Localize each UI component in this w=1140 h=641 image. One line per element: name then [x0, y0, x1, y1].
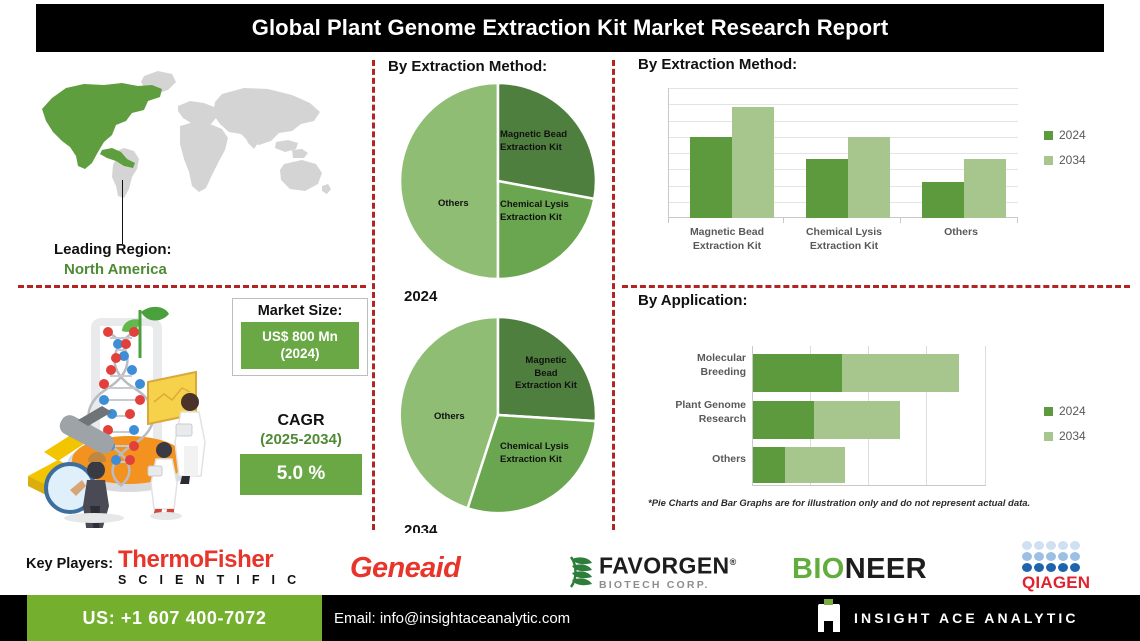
favorgen-subtext: BIOTECH CORP.: [599, 579, 737, 591]
report-title-bar: Global Plant Genome Extraction Kit Marke…: [36, 4, 1104, 52]
pie-2034-label-others: Others: [434, 411, 465, 424]
region-callout: Leading Region: North America: [54, 240, 172, 280]
legend-swatch-2034: [1044, 156, 1053, 165]
qiagen-wordmark: QIAGEN: [1022, 573, 1090, 593]
bar-2024-chemical-lysis: [806, 159, 848, 218]
geneaid-wordmark: Geneaid: [350, 552, 460, 585]
chart-disclaimer: *Pie Charts and Bar Graphs are for illus…: [648, 498, 1030, 509]
bar-chart-heading: By Extraction Method:: [638, 56, 1132, 73]
app-legend-item-2034: 2034: [1044, 429, 1086, 443]
pie-section-heading: By Extraction Method:: [388, 58, 604, 75]
app-plot-area: [752, 346, 986, 486]
market-size-amount: US$ 800 Mn: [243, 328, 357, 345]
divider-vertical-left: [372, 60, 375, 530]
app-row-plant-genome-research: [753, 401, 987, 439]
infographic-page: Global Plant Genome Extraction Kit Marke…: [0, 0, 1140, 641]
leading-region-panel: Leading Region: North America: [18, 62, 366, 277]
bar-2034-magnetic-bead: [732, 107, 774, 218]
divider-horizontal-left: [18, 285, 366, 288]
pie-2034-svg: [398, 315, 598, 515]
pie-2034-label-chemical-lysis: Chemical LysisExtraction Kit: [500, 441, 569, 466]
pie-2024-label-others: Others: [438, 198, 469, 211]
bar-plot-area: [668, 88, 1018, 218]
footer-brand: INSIGHT ACE ANALYTIC: [818, 595, 1079, 641]
app-legend-item-2024: 2024: [1044, 404, 1086, 418]
pie-2024-label-chemical-lysis: Chemical LysisExtraction Kit: [500, 199, 569, 224]
legend-label-2034: 2034: [1059, 153, 1086, 167]
pie-chart-2034: MagneticBeadExtraction Kit Chemical Lysi…: [382, 315, 604, 539]
logo-qiagen: QIAGEN: [1022, 541, 1090, 593]
cagr-card: CAGR (2025-2034) 5.0 %: [240, 412, 362, 495]
bar-category-chemical-lysis: Chemical LysisExtraction Kit: [786, 226, 902, 253]
hbar-2034-plant-genome-research: [814, 401, 900, 439]
pie-2024-label-magnetic-bead: Magnetic BeadExtraction Kit: [500, 129, 567, 154]
footer-bar: US: +1 607 400-7072 Email: info@insighta…: [0, 595, 1140, 641]
page-title: Global Plant Genome Extraction Kit Marke…: [252, 15, 889, 41]
market-size-title: Market Size:: [233, 303, 367, 319]
divider-vertical-right: [612, 60, 615, 530]
pie-2034-label-magnetic-bead: MagneticBeadExtraction Kit: [498, 355, 594, 393]
key-players-label: Key Players:: [26, 556, 113, 572]
insight-ace-logo-icon: [818, 604, 840, 632]
cagr-value: 5.0 %: [240, 454, 362, 495]
bioneer-wordmark-bio: BIO: [792, 553, 845, 585]
logo-geneaid: Geneaid: [350, 552, 460, 585]
qiagen-dot-grid-icon: [1022, 541, 1090, 572]
bioneer-wordmark-neer: NEER: [845, 553, 927, 585]
favorgen-mark-icon: [568, 553, 594, 589]
bar-2034-others: [964, 159, 1006, 218]
application-bar-chart: By Application: Molecula: [620, 292, 1132, 530]
leading-region-value: North America: [54, 260, 172, 280]
legend-item-2024: 2024: [1044, 128, 1086, 142]
dna-lab-illustration: [22, 300, 237, 528]
app-legend-label-2024: 2024: [1059, 404, 1086, 418]
app-legend-swatch-2024: [1044, 407, 1053, 416]
divider-horizontal-right: [622, 285, 1130, 288]
favorgen-wordmark: FAVORGEN®: [599, 551, 737, 578]
logo-thermo-fisher: ThermoFisher S C I E N T I F I C: [118, 548, 300, 587]
extraction-method-bar-chart: By Extraction Method:: [620, 56, 1132, 276]
bar-category-others: Others: [904, 226, 1018, 240]
logo-favorgen: FAVORGEN® BIOTECH CORP.: [568, 551, 737, 591]
map-leader-line: [122, 180, 123, 244]
cagr-years: (2025-2034): [240, 431, 362, 448]
hbar-2024-others: [753, 447, 785, 483]
world-map: [40, 64, 340, 214]
legend-swatch-2024: [1044, 131, 1053, 140]
app-chart-legend: 2024 2034: [1044, 404, 1086, 454]
footer-brand-text: INSIGHT ACE ANALYTIC: [854, 610, 1079, 626]
market-size-card: Market Size: US$ 800 Mn (2024): [232, 298, 368, 376]
hbar-2024-molecular-breeding: [753, 354, 842, 392]
legend-item-2034: 2034: [1044, 153, 1086, 167]
pie-2024-year: 2024: [404, 288, 604, 305]
app-category-molecular-breeding: MolecularBreeding: [630, 352, 746, 379]
footer-phone[interactable]: US: +1 607 400-7072: [27, 595, 322, 641]
pie-chart-column: By Extraction Method: Magnetic BeadExtra…: [382, 58, 604, 530]
bar-category-magnetic-bead: Magnetic BeadExtraction Kit: [668, 226, 786, 253]
bar-2034-chemical-lysis: [848, 137, 890, 218]
hbar-2034-molecular-breeding: [842, 354, 959, 392]
market-size-value: US$ 800 Mn (2024): [241, 322, 359, 369]
leading-region-label: Leading Region:: [54, 240, 172, 260]
app-chart-heading: By Application:: [638, 292, 1132, 309]
legend-label-2024: 2024: [1059, 128, 1086, 142]
logo-bioneer: BIONEER: [792, 553, 927, 586]
bar-2024-magnetic-bead: [690, 137, 732, 218]
favorgen-registered-icon: ®: [730, 557, 737, 567]
bar-chart-legend: 2024 2034: [1044, 128, 1086, 178]
hbar-2024-plant-genome-research: [753, 401, 814, 439]
app-legend-swatch-2034: [1044, 432, 1053, 441]
pie-chart-2024: Magnetic BeadExtraction Kit Chemical Lys…: [382, 81, 604, 305]
app-row-others: [753, 447, 987, 483]
footer-email[interactable]: Email: info@insightaceanalytic.com: [334, 595, 570, 641]
pie-2024-svg: [398, 81, 598, 281]
app-legend-label-2034: 2034: [1059, 429, 1086, 443]
thermo-fisher-subtext: S C I E N T I F I C: [118, 573, 300, 587]
thermo-fisher-wordmark: ThermoFisher: [118, 548, 300, 572]
app-row-molecular-breeding: [753, 354, 987, 392]
cagr-title: CAGR: [240, 412, 362, 430]
app-category-plant-genome-research: Plant GenomeResearch: [626, 399, 746, 426]
bar-2024-others: [922, 182, 964, 218]
market-size-year: (2024): [243, 345, 357, 362]
hbar-2034-others: [785, 447, 845, 483]
app-category-others: Others: [630, 453, 746, 467]
